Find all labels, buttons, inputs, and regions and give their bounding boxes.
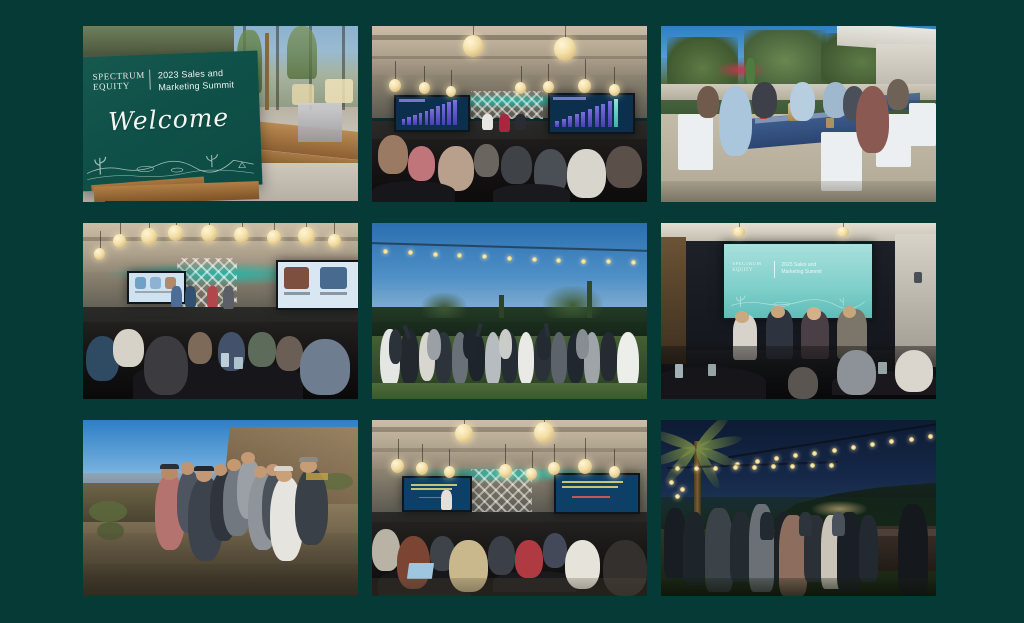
gallery-photo-group-photo[interactable]: Large group photo on the lawn under stri… [372, 223, 647, 399]
photo-overlay-band [105, 201, 358, 202]
sign-brand-name: SPECTRUMEQUITY [92, 70, 145, 93]
gallery-photo-outdoor-lunch[interactable]: Attendees seated at an outdoor patio tab… [661, 26, 936, 202]
photo-scene-panel-discussion: SPECTRUMEQUITY 2023 Sales andMarketing S… [661, 223, 936, 399]
photo-scene-ballroom-charts [372, 26, 647, 202]
sign-welcome-text: Welcome [99, 102, 238, 136]
sign-divider [148, 70, 150, 90]
photo-gallery-page: SPECTRUMEQUITY 2023 Sales andMarketing S… [0, 0, 1024, 623]
photo-scene-ballroom-headshots [83, 223, 358, 399]
gallery-photo-ballroom-session[interactable]: Ballroom session with attendees at round… [372, 420, 647, 596]
photo-scene-welcome-sign: SPECTRUMEQUITY 2023 Sales andMarketing S… [83, 26, 358, 202]
gallery-photo-evening-reception[interactable]: Evening outdoor reception with palm tree… [661, 420, 936, 596]
sign-event-title: 2023 Sales andMarketing Summit [157, 66, 252, 94]
photo-scene-ballroom-slides [372, 420, 647, 596]
gallery-photo-panel-discussion[interactable]: SPECTRUMEQUITY 2023 Sales andMarketing S… [661, 223, 936, 399]
gallery-photo-welcome-sign[interactable]: SPECTRUMEQUITY 2023 Sales andMarketing S… [83, 26, 358, 202]
gallery-photo-breakout-session[interactable]: Conference room breakout session with sp… [83, 223, 358, 399]
photo-scene-desert-hike [83, 420, 358, 596]
gallery-photo-desert-hike[interactable]: Group of attendees on a desert mountain … [83, 420, 358, 596]
photo-scene-group-photo [372, 223, 647, 399]
desert-illustration-icon [85, 134, 254, 186]
photo-scene-outdoor-lunch [661, 26, 936, 202]
photo-scene-evening-reception [661, 420, 936, 596]
photo-grid: SPECTRUMEQUITY 2023 Sales andMarketing S… [83, 26, 936, 597]
gallery-photo-ballroom-keynote[interactable]: Ballroom general session with two screen… [372, 26, 647, 202]
